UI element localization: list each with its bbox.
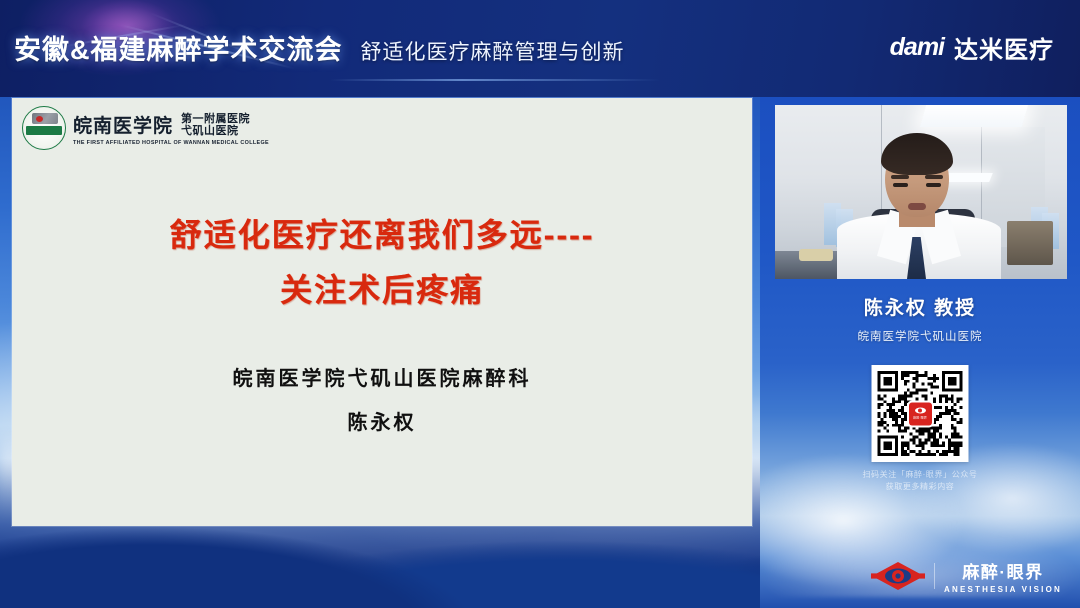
anesthesia-vision-cn: 麻醉·眼界 [962,558,1043,583]
event-subtitle: 舒适化医疗麻醉管理与创新 [361,36,625,66]
slide-subtitle: 皖南医学院弋矶山医院麻醉科 陈永权 [12,356,752,444]
hospital-logo-text: 皖南医学院 第一附属医院 弋矶山医院 THE FIRST AFFILIATED … [73,111,269,146]
video-background-equipment [1007,221,1053,265]
crest-emblem-dot [36,116,43,122]
video-desk-object [799,249,833,261]
anesthesia-vision-wordmark: 麻醉·眼界 ANESTHESIA VISION [944,558,1062,594]
hospital-logo: 皖南医学院 第一附属医院 弋矶山医院 THE FIRST AFFILIATED … [22,106,269,150]
hospital-name-english: THE FIRST AFFILIATED HOSPITAL OF WANNAN … [73,140,269,146]
logo-divider [934,563,935,589]
slide-title-line-1: 舒适化医疗还离我们多远---- [12,208,752,263]
sponsor-logo: dami 达米医疗 [890,30,1054,65]
event-header-bar: 安徽&福建麻醉学术交流会 舒适化医疗麻醉管理与创新 dami 达米医疗 [0,0,1080,97]
anesthesia-vision-logo: 麻醉·眼界 ANESTHESIA VISION [871,558,1062,594]
header-underline [330,79,660,81]
speaker-video-feed[interactable] [775,105,1067,279]
video-speaker-mouth [908,203,926,210]
qr-caption-line-2: 获取更多精彩内容 [760,481,1080,493]
qr-badge-label: 麻醉·眼界 [913,415,927,419]
college-crest-icon [22,106,66,150]
video-speaker-eyebrow [925,175,943,179]
qr-code[interactable]: 麻醉·眼界 [872,365,969,462]
slide-title: 舒适化医疗还离我们多远---- 关注术后疼痛 [12,208,752,318]
anesthesia-vision-en: ANESTHESIA VISION [944,585,1062,594]
presentation-slide[interactable]: 皖南医学院 第一附属医院 弋矶山医院 THE FIRST AFFILIATED … [12,98,752,526]
qr-caption-line-1: 扫码关注「麻醉·眼界」公众号 [760,469,1080,481]
qr-caption: 扫码关注「麻醉·眼界」公众号 获取更多精彩内容 [760,469,1080,493]
speaker-side-panel: 陈永权 教授 皖南医学院弋矶山医院 麻醉·眼界 扫码关注「麻醉·眼界」公众号 获… [760,97,1080,608]
slide-affiliation: 皖南医学院弋矶山医院麻醉科 [12,356,752,400]
slide-title-line-2: 关注术后疼痛 [12,263,752,318]
speaker-organization: 皖南医学院弋矶山医院 [760,328,1080,344]
hospital-name-line2: 弋矶山医院 [181,125,250,137]
video-speaker-eyebrow [891,175,909,179]
speaker-info: 陈永权 教授 皖南医学院弋矶山医院 [760,293,1080,344]
video-ceiling-light [920,105,1028,127]
eye-mark-icon [915,408,926,414]
video-speaker-eye [926,183,941,187]
video-speaker-eye [893,183,908,187]
qr-code-matrix: 麻醉·眼界 [878,371,963,456]
slide-presenter-name: 陈永权 [12,400,752,444]
qr-center-logo-icon: 麻醉·眼界 [909,402,932,425]
broadcast-screen: 安徽&福建麻醉学术交流会 舒适化医疗麻醉管理与创新 dami 达米医疗 皖南医学… [0,0,1080,608]
sponsor-logo-en: dami [890,33,944,62]
header-title-group: 安徽&福建麻醉学术交流会 舒适化医疗麻醉管理与创新 [14,28,625,67]
college-name: 皖南医学院 [73,111,173,138]
sponsor-logo-cn: 达米医疗 [954,30,1054,65]
anesthesia-vision-eye-mark-icon [871,561,925,591]
event-title: 安徽&福建麻醉学术交流会 [14,28,343,67]
speaker-name: 陈永权 教授 [760,293,1080,320]
